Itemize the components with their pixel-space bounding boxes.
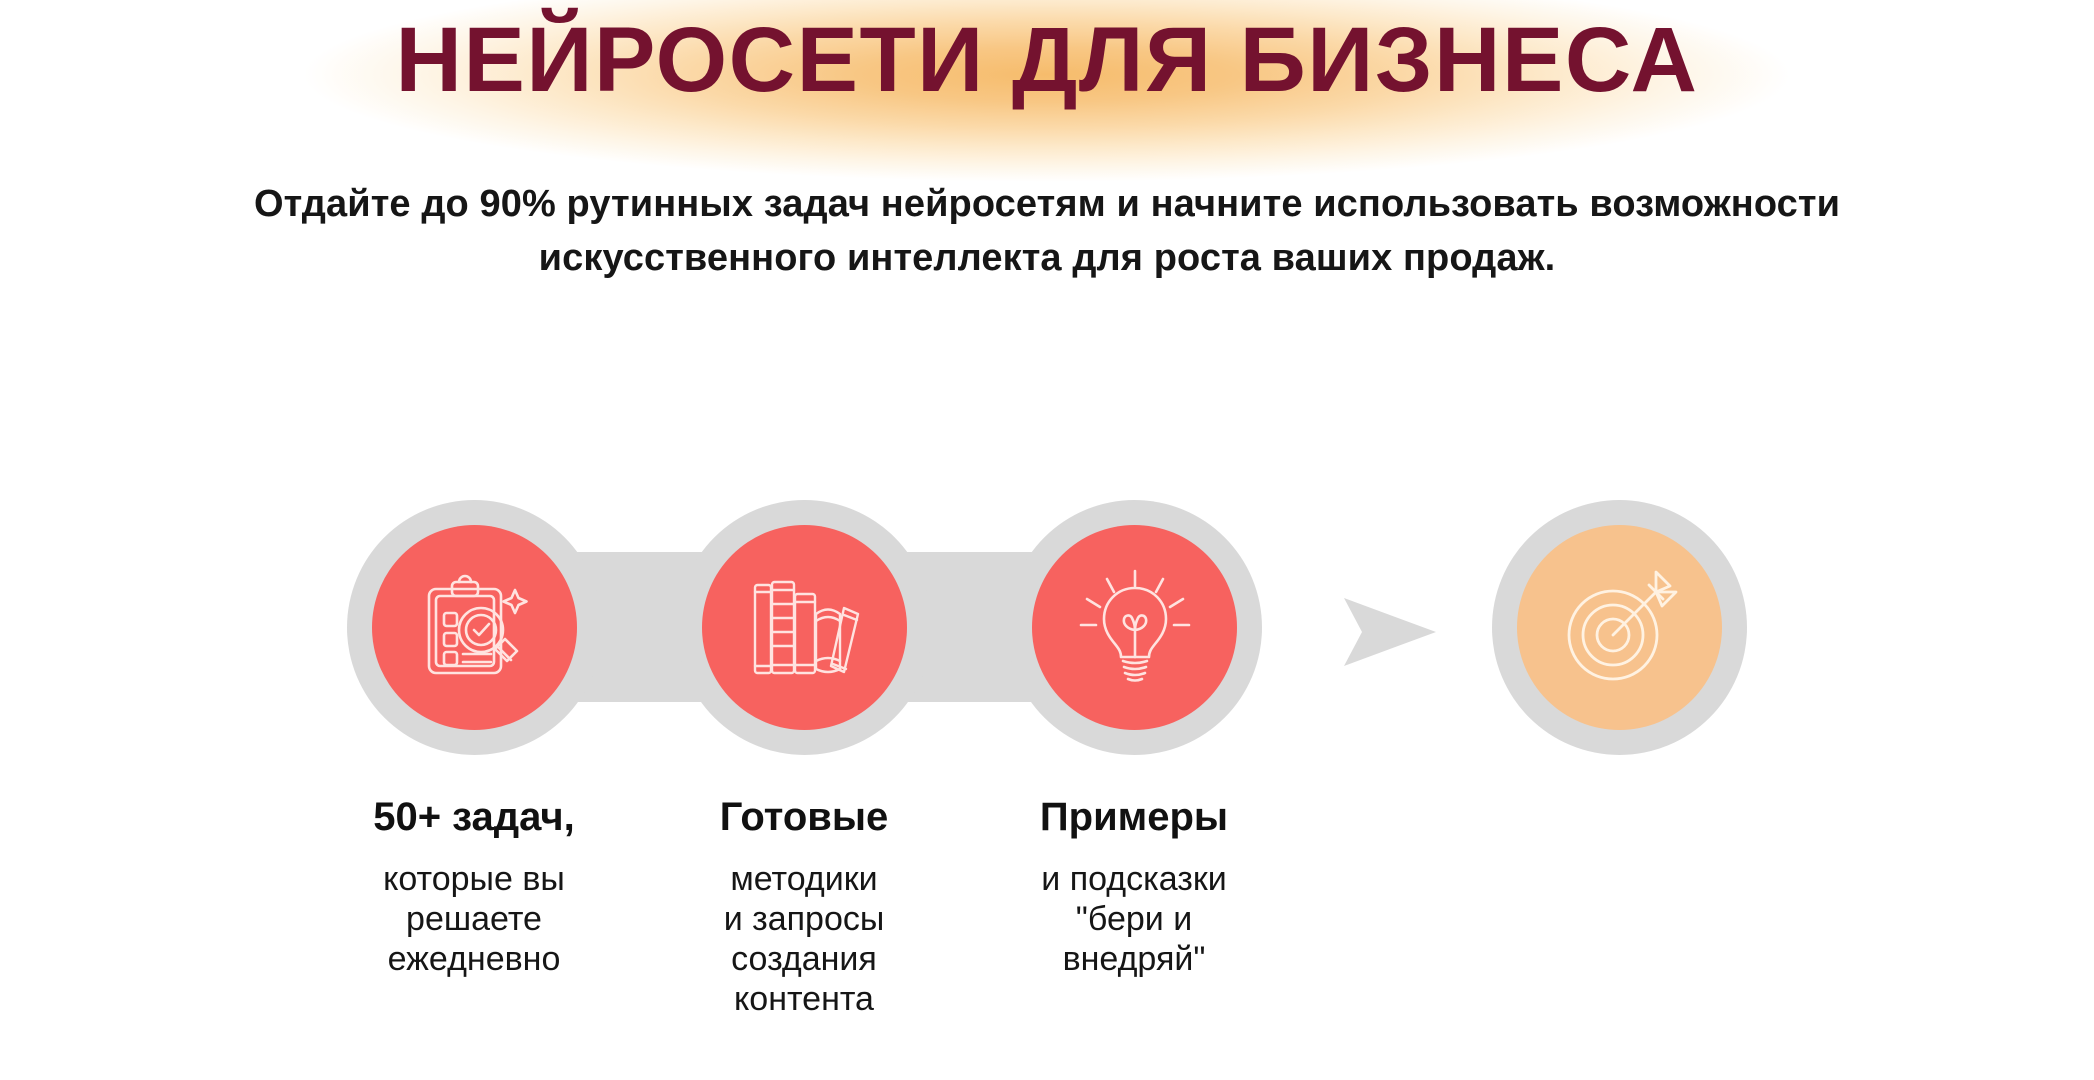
process-label-3-head: Примеры — [989, 795, 1279, 839]
subtitle-line-2: искусственного интеллекта для роста ваши… — [72, 232, 2022, 286]
process-label-2-body-line-3: создания — [659, 939, 949, 979]
process-label-2: Готовые методики и запросы создания конт… — [659, 795, 949, 1019]
process-label-2-body-line-2: и запросы — [659, 899, 949, 939]
process-label-2-body-line-4: контента — [659, 979, 949, 1019]
target-dart-goal-icon — [1557, 565, 1683, 691]
process-node-3[interactable] — [1007, 500, 1262, 755]
process-diagram — [0, 500, 2094, 800]
process-labels: 50+ задач, которые вы решаете ежедневно … — [0, 795, 2094, 1075]
process-label-1-body: которые вы решаете ежедневно — [329, 859, 619, 979]
process-node-2-disc — [702, 525, 907, 730]
subtitle-line-1: Отдайте до 90% рутинных задач нейросетям… — [72, 178, 2022, 232]
hero-subtitle: Отдайте до 90% рутинных задач нейросетям… — [72, 178, 2022, 286]
process-label-1: 50+ задач, которые вы решаете ежедневно — [329, 795, 619, 979]
process-label-3: Примеры и подсказки "бери и внедряй" — [989, 795, 1279, 979]
process-label-3-body-line-2: "бери и — [989, 899, 1279, 939]
process-label-1-body-line-3: ежедневно — [329, 939, 619, 979]
process-node-4[interactable] — [1492, 500, 1747, 755]
process-label-3-body: и подсказки "бери и внедряй" — [989, 859, 1279, 979]
process-node-1-disc — [372, 525, 577, 730]
books-stack-icon — [745, 568, 865, 688]
process-node-4-disc — [1517, 525, 1722, 730]
lightbulb-idea-icon — [1074, 567, 1196, 689]
process-node-2[interactable] — [677, 500, 932, 755]
process-label-1-body-line-1: которые вы — [329, 859, 619, 899]
process-label-1-body-line-2: решаете — [329, 899, 619, 939]
page-title: НЕЙРОСЕТИ ДЛЯ БИЗНЕСА — [0, 12, 2094, 109]
process-label-1-head: 50+ задач, — [329, 795, 619, 839]
clipboard-checklist-magnifier-icon — [415, 568, 535, 688]
process-label-2-body-line-1: методики — [659, 859, 949, 899]
process-node-1[interactable] — [347, 500, 602, 755]
process-node-3-disc — [1032, 525, 1237, 730]
process-label-3-body-line-3: внедряй" — [989, 939, 1279, 979]
hero-section: НЕЙРОСЕТИ ДЛЯ БИЗНЕСА — [0, 0, 2094, 150]
chevron-right-arrow-icon — [1332, 592, 1452, 672]
process-label-2-head: Готовые — [659, 795, 949, 839]
process-label-3-body-line-1: и подсказки — [989, 859, 1279, 899]
process-label-2-body: методики и запросы создания контента — [659, 859, 949, 1019]
